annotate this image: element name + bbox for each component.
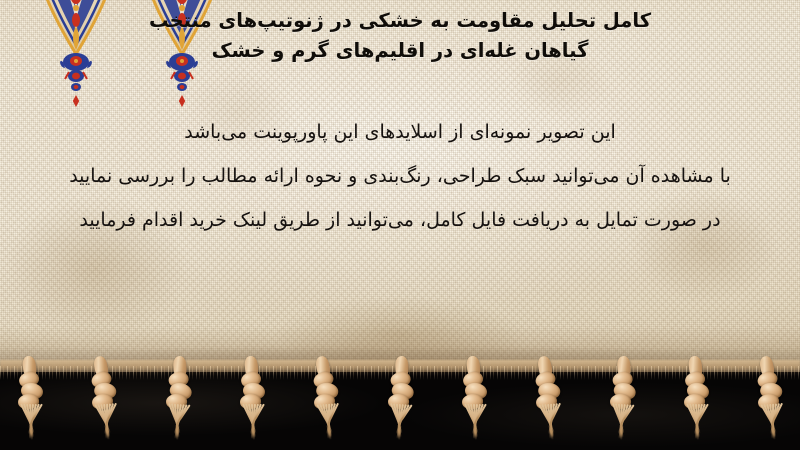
tassel-threads	[454, 404, 494, 444]
fringe-tassel	[149, 356, 207, 447]
slide-body-line-3: در صورت تمایل به دریافت فایل کامل، می‌تو…	[0, 198, 800, 242]
slide-body-line-2: با مشاهده آن می‌توانید سبک طراحی، رنگ‌بن…	[0, 154, 800, 198]
fringe-tassel	[4, 358, 56, 446]
tassel-threads	[232, 404, 272, 444]
fringe-tassel	[593, 356, 651, 447]
slide-canvas: کامل تحلیل مقاومت به خشکی در ژنوتیپ‌های …	[0, 0, 800, 450]
fringe-tassel	[75, 356, 133, 447]
slide-body: این تصویر نمونه‌ای از اسلایدهای این پاور…	[0, 110, 800, 242]
tassel-threads	[10, 404, 50, 444]
fringe-tassel	[519, 356, 577, 447]
fringe-tassel	[297, 356, 355, 447]
tassel-threads	[599, 403, 642, 446]
slide-title-line-1: کامل تحلیل مقاومت به خشکی در ژنوتیپ‌های …	[0, 6, 800, 36]
slide-body-line-1: این تصویر نمونه‌ای از اسلایدهای این پاور…	[0, 110, 800, 154]
fringe-tassel	[448, 358, 500, 446]
tassel-threads	[155, 403, 198, 446]
tassel-threads	[306, 403, 349, 446]
tassel-threads	[676, 404, 716, 444]
tassel-threads	[528, 403, 571, 446]
tassel-threads	[377, 403, 420, 446]
slide-title-line-2: گیاهان غله‌ای در اقلیم‌های گرم و خشک	[0, 36, 800, 66]
slide-text-layer: کامل تحلیل مقاومت به خشکی در ژنوتیپ‌های …	[0, 0, 800, 372]
fringe-tassel	[741, 356, 799, 447]
fringe-tassel	[371, 356, 429, 447]
fringe-tassel	[226, 358, 278, 446]
tassel-threads	[750, 403, 793, 446]
slide-title: کامل تحلیل مقاومت به خشکی در ژنوتیپ‌های …	[0, 6, 800, 66]
fringe-tassel	[670, 358, 722, 446]
tassel-threads	[84, 403, 127, 446]
carpet-knotted-fringe	[0, 358, 800, 450]
